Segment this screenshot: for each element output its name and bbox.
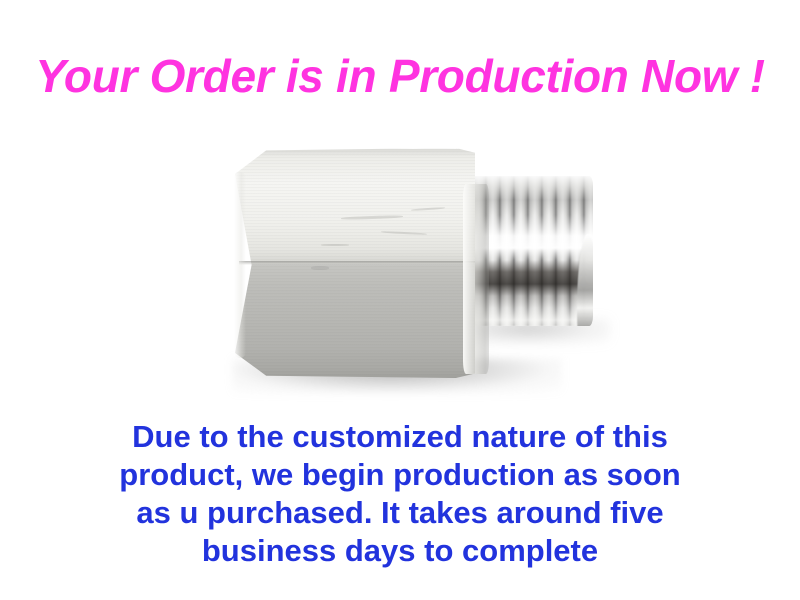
hex-upper-face: [235, 148, 475, 266]
disclaimer-line-1: Due to the customized nature of this: [0, 418, 800, 456]
thread-end-cap: [577, 234, 593, 326]
machining-mark: [341, 215, 403, 220]
product-photo: [180, 120, 650, 410]
disclaimer-text: Due to the customized nature of this pro…: [0, 418, 800, 570]
page-title: Your Order is in Production Now !: [0, 48, 800, 104]
hex-lower-face: [235, 264, 475, 378]
hex-nut-body: [235, 148, 475, 378]
promo-banner: Your Order is in Production Now !: [0, 0, 800, 600]
machining-mark: [411, 207, 445, 211]
machining-mark: [381, 231, 427, 235]
hex-left-chamfer: [234, 172, 246, 358]
disclaimer-line-4: business days to complete: [0, 532, 800, 570]
disclaimer-line-2: product, we begin production as soon: [0, 456, 800, 494]
disclaimer-line-3: as u purchased. It takes around five: [0, 494, 800, 532]
machining-mark: [311, 266, 329, 270]
machining-mark: [321, 244, 349, 246]
hex-thread-shoulder: [463, 184, 489, 374]
